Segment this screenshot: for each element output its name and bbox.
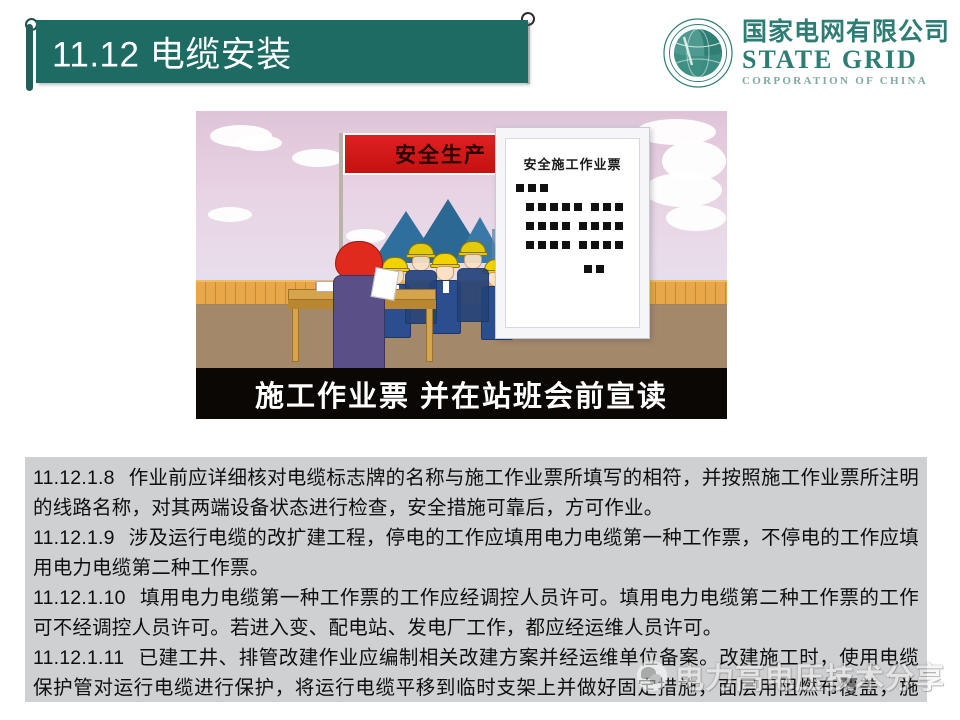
work-ticket-document: 安全施工作业票	[495, 127, 650, 339]
text-block-mark	[615, 203, 623, 211]
state-grid-globe-icon	[662, 17, 734, 89]
work-ticket-line	[516, 184, 639, 192]
text-block-mark	[615, 222, 623, 230]
work-ticket-inner: 安全施工作业票	[505, 138, 640, 328]
worker-figure	[408, 243, 438, 323]
text-block-mark	[579, 222, 587, 230]
text-block-mark	[584, 265, 592, 273]
clause-paragraph: 11.12.1.10填用电力电缆第一种工作票的工作应经调控人员许可。填用电力电缆…	[33, 583, 919, 643]
text-block-mark	[562, 241, 570, 249]
work-ticket-line	[526, 222, 639, 230]
title-left-accent-bar	[26, 24, 33, 91]
text-block-mark	[538, 203, 546, 211]
text-block-mark	[540, 184, 548, 192]
text-block-mark	[603, 203, 611, 211]
clause-paragraph: 11.12.1.9涉及运行电缆的改扩建工程，停电的工作应填用电力电缆第一种工作票…	[33, 523, 919, 583]
text-block-mark	[596, 265, 604, 273]
clause-number: 11.12.1.9	[33, 527, 115, 549]
desk-leg	[292, 300, 299, 362]
worker-uniform	[457, 268, 489, 322]
illustration-caption-bar: 施工作业票 并在站班会前宣读	[196, 368, 727, 419]
slide-title-banner: 11.12 电缆安装	[36, 20, 528, 83]
clause-paragraph: 11.12.1.8作业前应详细核对电缆标志牌的名称与施工作业票所填写的相符，并按…	[33, 463, 919, 523]
cloud-shape	[236, 135, 282, 151]
text-block-mark	[579, 241, 587, 249]
cloud-shape	[644, 173, 722, 207]
clause-body: 已建工井、排管改建作业应编制相关改建方案并经运维单位备案。改建施工时，使用电缆保…	[33, 647, 919, 702]
text-block-mark	[591, 241, 599, 249]
clause-body: 填用电力电缆第一种工作票的工作应经调控人员许可。填用电力电缆第二种工作票的工作可…	[33, 587, 919, 639]
text-block-mark	[528, 184, 536, 192]
text-block-mark	[562, 222, 570, 230]
text-block-mark	[591, 203, 599, 211]
desk-leg	[426, 300, 433, 362]
text-block-mark	[550, 241, 558, 249]
text-block-mark	[538, 222, 546, 230]
text-block-mark	[603, 222, 611, 230]
text-block-mark	[562, 203, 570, 211]
text-block-mark	[526, 222, 534, 230]
text-block-mark	[538, 241, 546, 249]
state-grid-logo: 国家电网有限公司 STATE GRID CORPORATION OF CHINA	[662, 14, 952, 92]
cloud-shape	[666, 205, 726, 231]
cloud-shape	[292, 149, 344, 167]
logo-company-sub: CORPORATION OF CHINA	[742, 76, 950, 87]
speaker-paper	[371, 267, 400, 301]
safety-briefing-illustration: 安全生产	[196, 111, 727, 419]
clause-body: 涉及运行电缆的改扩建工程，停电的工作应填用电力电缆第一种工作票，不停电的工作应填…	[33, 527, 919, 579]
speaker-figure	[329, 241, 399, 376]
worker-shirt	[443, 281, 449, 293]
text-block-mark	[574, 203, 582, 211]
work-ticket-line	[584, 265, 639, 273]
clause-body: 作业前应详细核对电缆标志牌的名称与施工作业票所填写的相符，并按照施工作业票所注明…	[33, 467, 919, 519]
text-block-mark	[615, 241, 623, 249]
clause-number: 11.12.1.8	[33, 467, 115, 489]
work-ticket-line	[526, 203, 639, 211]
worker-face	[412, 256, 430, 271]
clause-number: 11.12.1.11	[33, 647, 124, 669]
worker-face	[464, 254, 482, 269]
text-block-mark	[603, 241, 611, 249]
illustration-caption-text: 施工作业票 并在站班会前宣读	[255, 373, 668, 415]
text-block-mark	[526, 203, 534, 211]
worker-figure	[460, 241, 490, 321]
text-block-mark	[526, 241, 534, 249]
text-block-mark	[550, 203, 558, 211]
cloud-shape	[208, 207, 252, 222]
text-block-mark	[591, 222, 599, 230]
page-title: 11.12 电缆安装	[52, 26, 292, 77]
worker-face	[436, 266, 454, 281]
clause-number: 11.12.1.10	[33, 587, 126, 609]
work-ticket-line	[526, 241, 639, 249]
logo-text-block: 国家电网有限公司 STATE GRID CORPORATION OF CHINA	[742, 20, 950, 87]
clause-paragraph: 11.12.1.11已建工井、排管改建作业应编制相关改建方案并经运维单位备案。改…	[33, 643, 919, 702]
work-ticket-title: 安全施工作业票	[506, 154, 639, 173]
logo-company-en: STATE GRID	[742, 47, 950, 73]
text-block-mark	[516, 184, 524, 192]
clause-text-block: 11.12.1.8作业前应详细核对电缆标志牌的名称与施工作业票所填写的相符，并按…	[25, 457, 927, 702]
safety-banner-text: 安全生产	[395, 139, 487, 169]
logo-company-cn: 国家电网有限公司	[742, 20, 950, 45]
text-block-mark	[550, 222, 558, 230]
